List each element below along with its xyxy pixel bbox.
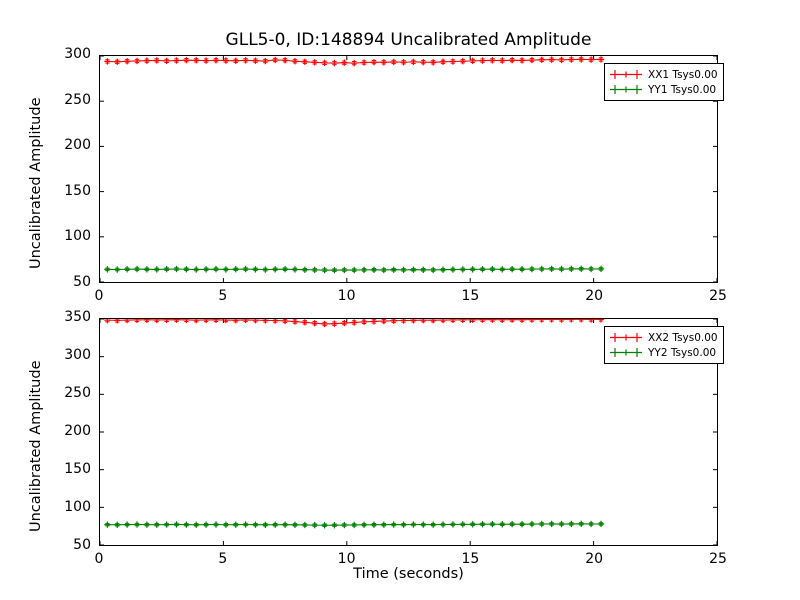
legend-bottom[interactable]: XX2 Tsys0.00 YY2 Tsys0.00: [604, 326, 724, 364]
legend-top[interactable]: XX1 Tsys0.00 YY1 Tsys0.00: [604, 63, 724, 101]
legend-item-xx1[interactable]: XX1 Tsys0.00: [609, 67, 718, 82]
legend-label-xx2: XX2 Tsys0.00: [648, 331, 718, 345]
legend-label-yy2: YY2 Tsys0.00: [648, 346, 716, 360]
series-xx: [104, 56, 604, 66]
y-tick-label: 100: [41, 228, 91, 244]
legend-swatch-yy1: [609, 84, 643, 95]
legend-item-yy2[interactable]: YY2 Tsys0.00: [609, 345, 718, 360]
legend-item-xx2[interactable]: XX2 Tsys0.00: [609, 330, 718, 345]
legend-swatch-xx1: [609, 69, 643, 80]
y-tick-label: 200: [41, 423, 91, 439]
x-tick-label: 15: [450, 551, 490, 567]
x-tick-label: 25: [698, 551, 738, 567]
series-yy: [104, 266, 604, 274]
y-tick-label: 300: [41, 46, 91, 62]
legend-swatch-xx2: [609, 332, 643, 343]
y-tick-label: 250: [41, 385, 91, 401]
x-tick-label: 25: [698, 288, 738, 304]
x-tick-label: 10: [327, 551, 367, 567]
x-tick-label: 5: [203, 551, 243, 567]
y-tick-label: 250: [41, 92, 91, 108]
x-tick-label: 5: [203, 288, 243, 304]
series-yy: [104, 521, 604, 529]
legend-label-yy1: YY1 Tsys0.00: [648, 83, 716, 97]
x-axis-label: Time (seconds): [99, 566, 718, 582]
legend-swatch-yy2: [609, 347, 643, 358]
y-tick-label: 150: [41, 183, 91, 199]
legend-item-yy1[interactable]: YY1 Tsys0.00: [609, 82, 718, 97]
figure-title: GLL5-0, ID:148894 Uncalibrated Amplitude: [99, 30, 718, 50]
x-tick-label: 20: [574, 288, 614, 304]
y-tick-label: 100: [41, 499, 91, 515]
x-tick-label: 20: [574, 551, 614, 567]
y-tick-label: 350: [41, 309, 91, 325]
y-tick-label: 300: [41, 347, 91, 363]
x-tick-label: 0: [79, 288, 119, 304]
y-tick-label: 150: [41, 461, 91, 477]
x-tick-label: 15: [450, 288, 490, 304]
x-tick-label: 0: [79, 551, 119, 567]
legend-label-xx1: XX1 Tsys0.00: [648, 68, 718, 82]
series-xx: [104, 319, 604, 327]
figure-canvas: GLL5-0, ID:148894 Uncalibrated Amplitude…: [0, 0, 800, 600]
x-tick-label: 10: [327, 288, 367, 304]
y-tick-label: 200: [41, 137, 91, 153]
